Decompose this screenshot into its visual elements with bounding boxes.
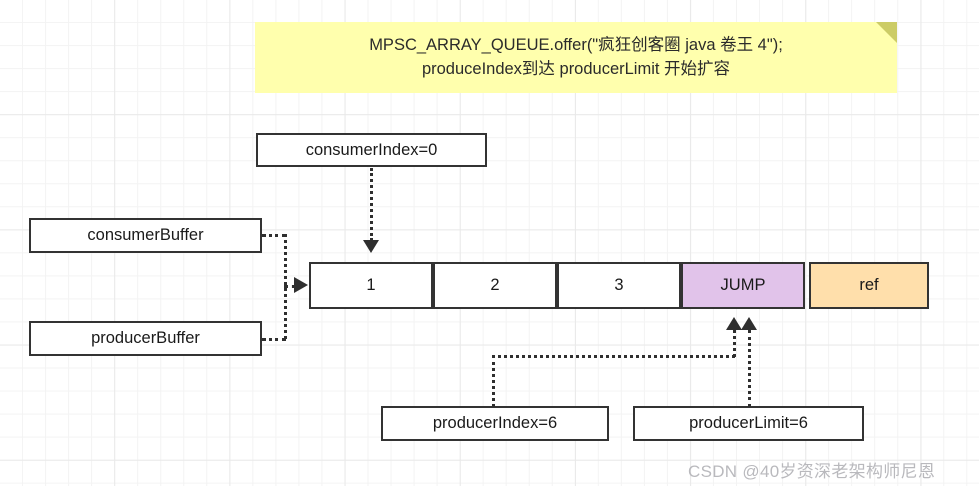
sticky-note-line-1: MPSC_ARRAY_QUEUE.offer("疯狂创客圈 java 卷王 4"… [369,34,783,58]
array-cell-0-label: 1 [366,276,375,295]
producer-limit-box: producerLimit=6 [633,406,864,441]
consumer-buffer-connector-line [262,234,286,237]
array-cell-ref: ref [809,262,929,309]
producer-limit-label: producerLimit=6 [689,414,808,433]
producer-limit-connector-vertical [748,330,751,407]
producer-buffer-connector-line [262,338,286,341]
consumer-index-label: consumerIndex=0 [306,141,438,160]
producer-index-label: producerIndex=6 [433,414,557,433]
sticky-note-fold-corner [876,22,897,43]
consumer-index-arrow-icon [363,240,379,253]
producer-buffer-label: producerBuffer [91,329,200,348]
array-cell-jump: JUMP [681,262,805,309]
producer-index-connector-horizontal [492,355,735,358]
consumer-buffer-label: consumerBuffer [87,226,203,245]
producer-index-connector-riser [733,330,736,357]
consumer-buffer-box: consumerBuffer [29,218,262,253]
array-cell-jump-label: JUMP [721,276,766,295]
producer-buffer-box: producerBuffer [29,321,262,356]
sticky-note-text: MPSC_ARRAY_QUEUE.offer("疯狂创客圈 java 卷王 4"… [255,22,897,93]
producer-index-box: producerIndex=6 [381,406,609,441]
producer-limit-arrow-icon [741,317,757,330]
array-cell-1: 2 [433,262,557,309]
consumer-index-connector-line [370,168,373,241]
array-cell-1-label: 2 [490,276,499,295]
array-cell-2-label: 3 [614,276,623,295]
diagram-canvas: MPSC_ARRAY_QUEUE.offer("疯狂创客圈 java 卷王 4"… [0,0,979,486]
sticky-note: MPSC_ARRAY_QUEUE.offer("疯狂创客圈 java 卷王 4"… [255,22,897,93]
array-cell-ref-label: ref [859,276,878,295]
watermark: CSDN @40岁资深老架构师尼恩 [688,457,935,482]
array-cell-0: 1 [309,262,433,309]
producer-index-connector-vertical [492,355,495,407]
buffer-array-arrow-icon [294,277,308,293]
producer-index-arrow-icon [726,317,742,330]
sticky-note-line-2: produceIndex到达 producerLimit 开始扩容 [422,58,730,82]
consumer-index-box: consumerIndex=0 [256,133,487,167]
array-cell-2: 3 [557,262,681,309]
